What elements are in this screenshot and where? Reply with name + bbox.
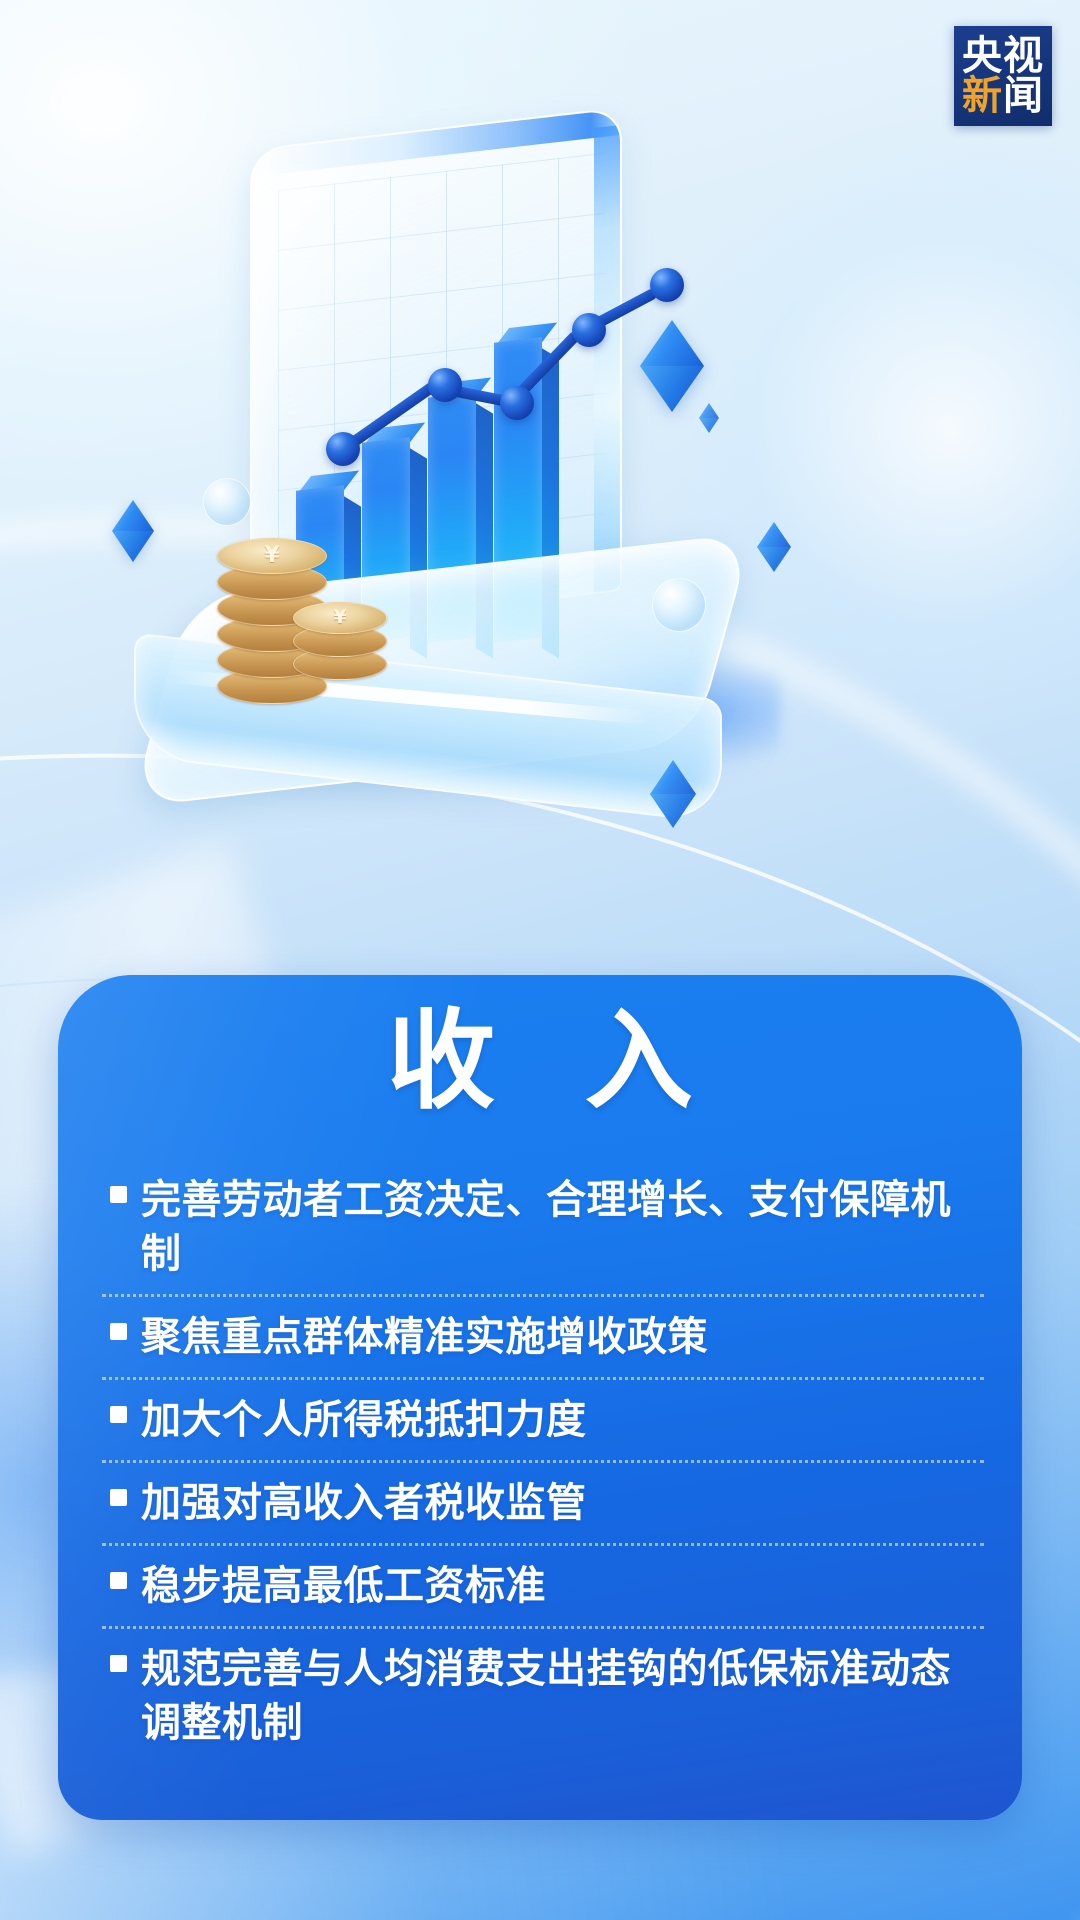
income-policy-card: 收 入 完善劳动者工资决定、合理增长、支付保障机制 聚焦重点群体精准实施增收政策… [58, 975, 1022, 1820]
diamond-icon-tiny [699, 403, 719, 433]
diamond-icon-bottom-right [650, 760, 696, 828]
glass-bubble-right [652, 578, 706, 632]
bullet-square-icon [110, 1655, 127, 1672]
diamond-icon-right-upper [640, 320, 704, 412]
glass-bubble-left [203, 478, 251, 526]
list-item-text: 加大个人所得税抵扣力度 [141, 1393, 587, 1447]
trend-node-5 [650, 268, 684, 302]
bullet-square-icon [110, 1572, 127, 1589]
list-item: 聚焦重点群体精准实施增收政策 [102, 1294, 984, 1377]
yuan-symbol-icon: ¥ [218, 543, 326, 569]
coin-tall-top: ¥ [217, 538, 327, 574]
list-item-text: 规范完善与人均消费支出挂钩的低保标准动态调整机制 [141, 1642, 984, 1750]
diamond-icon-right-small [757, 522, 791, 572]
gold-coin-stacks: ¥ ¥ [205, 530, 405, 700]
list-item: 稳步提高最低工资标准 [102, 1543, 984, 1626]
list-item: 规范完善与人均消费支出挂钩的低保标准动态调整机制 [102, 1626, 984, 1763]
diamond-icon-left [112, 500, 154, 562]
bullet-square-icon [110, 1406, 127, 1423]
coin-short-top: ¥ [293, 602, 387, 634]
list-item: 完善劳动者工资决定、合理增长、支付保障机制 [102, 1160, 984, 1294]
income-growth-3d-illustration: ¥ ¥ [0, 70, 1080, 830]
page-title: 收 入 [58, 997, 1022, 1127]
list-item-text: 完善劳动者工资决定、合理增长、支付保障机制 [141, 1173, 984, 1281]
trend-node-2 [428, 368, 462, 402]
list-item: 加强对高收入者税收监管 [102, 1460, 984, 1543]
list-item: 加大个人所得税抵扣力度 [102, 1377, 984, 1460]
bullet-square-icon [110, 1323, 127, 1340]
bullet-square-icon [110, 1186, 127, 1203]
trend-node-4 [572, 313, 606, 347]
list-item-text: 稳步提高最低工资标准 [141, 1559, 546, 1613]
trend-node-1 [326, 432, 360, 466]
list-item-text: 加强对高收入者税收监管 [141, 1476, 587, 1530]
trend-node-3 [500, 386, 534, 420]
bullet-square-icon [110, 1489, 127, 1506]
policy-list: 完善劳动者工资决定、合理增长、支付保障机制 聚焦重点群体精准实施增收政策 加大个… [102, 1160, 984, 1763]
list-item-text: 聚焦重点群体精准实施增收政策 [141, 1310, 708, 1364]
poster-root: 央视 新 闻 [0, 0, 1080, 1920]
yuan-symbol-icon: ¥ [294, 606, 386, 629]
